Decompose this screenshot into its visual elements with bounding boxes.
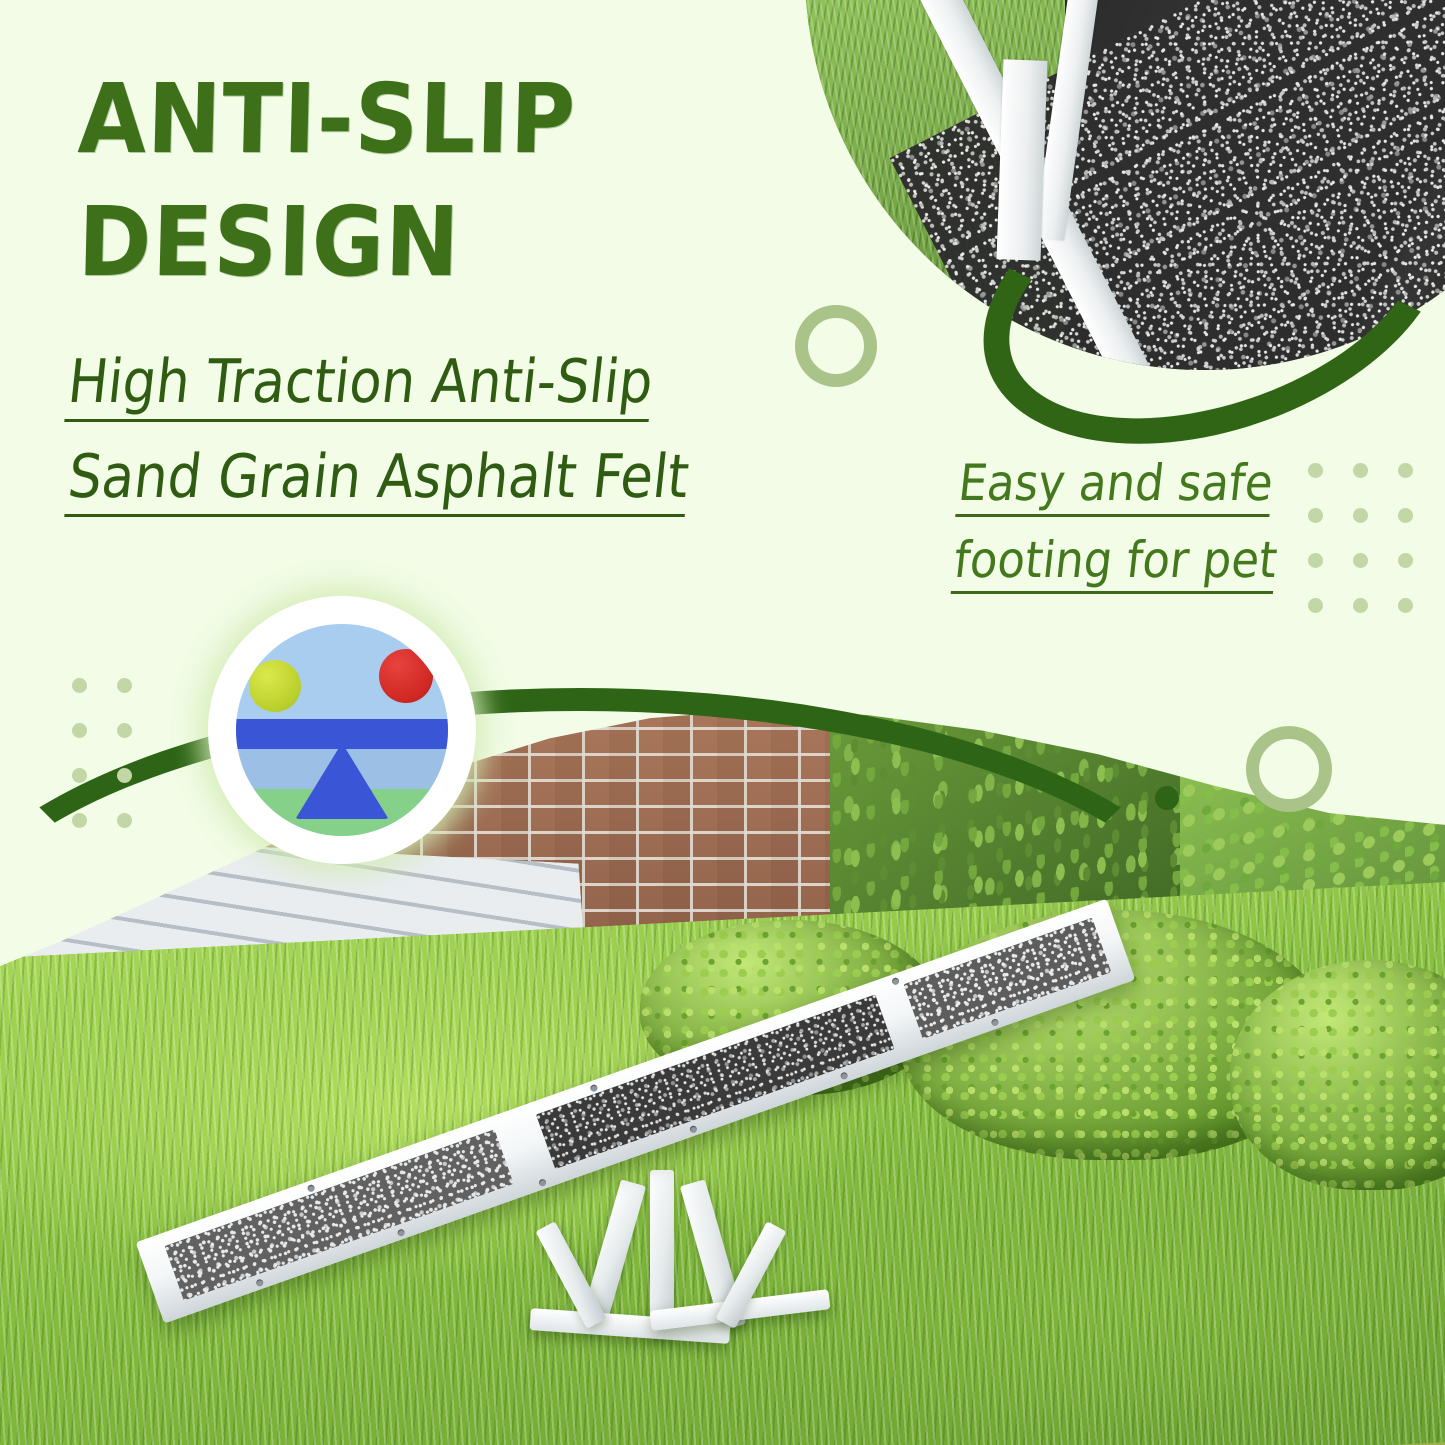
screw (689, 1125, 698, 1134)
seesaw-balance-icon (236, 624, 448, 836)
decorative-ring-upper-icon (795, 305, 877, 387)
anti-slip-surface-upper (904, 918, 1112, 1039)
headline-line-1: ANTI-SLIP (77, 58, 724, 181)
headline-block: ANTI-SLIP DESIGN (78, 58, 778, 304)
dot-grid-left (72, 678, 132, 828)
subtitle-block: High Traction Anti-Slip Sand Grain Aspha… (68, 352, 728, 542)
screw (840, 1071, 849, 1080)
screw (307, 1184, 316, 1193)
decorative-ring-lower-icon (1246, 726, 1332, 812)
anti-slip-surface-middle (536, 994, 895, 1169)
screw (255, 1278, 264, 1287)
photo-arc-end-cap (1155, 786, 1179, 810)
inset-frame-leg (997, 59, 1048, 260)
screw (538, 1178, 547, 1187)
red-ball-icon (379, 649, 433, 703)
headline-line-2: DESIGN (77, 181, 724, 304)
caption-line-1: Easy and safe (955, 458, 1275, 517)
screw (891, 977, 900, 986)
screw (589, 1084, 598, 1093)
seesaw-plank (136, 899, 1136, 1324)
product-feature-poster: ANTI-SLIP DESIGN High Traction Anti-Slip… (0, 0, 1445, 1445)
caption-line-2: footing for pet (950, 535, 1279, 594)
caption-block: Easy and safe footing for pet (925, 458, 1305, 612)
dot-grid-right (1308, 463, 1413, 613)
yellow-ball-icon (249, 660, 301, 712)
subtitle-line-2: Sand Grain Asphalt Felt (64, 447, 692, 517)
anti-slip-surface-lower (164, 1129, 513, 1301)
screw (991, 1018, 1000, 1027)
subtitle-line-1: High Traction Anti-Slip (64, 352, 656, 422)
seesaw-badge (208, 596, 476, 864)
screw (397, 1228, 406, 1237)
